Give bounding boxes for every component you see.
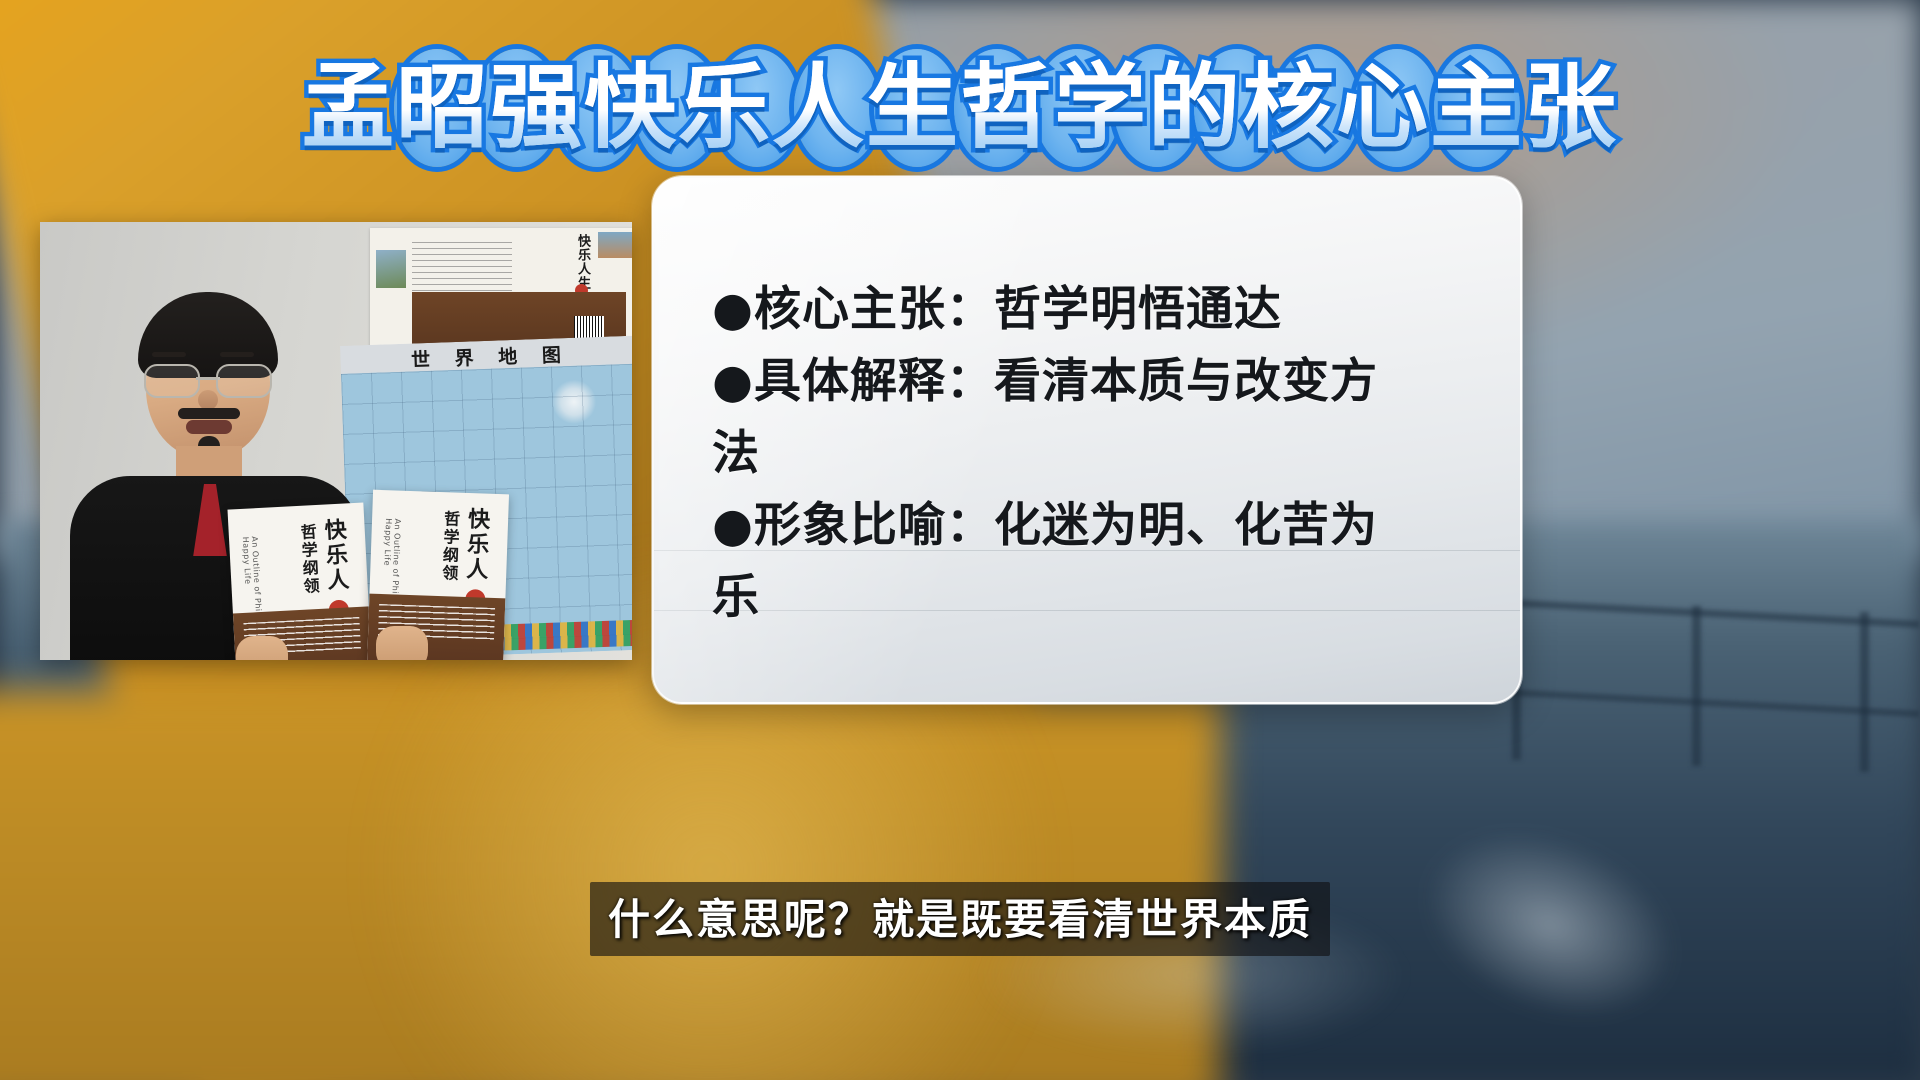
speaker-eyebrow [152,352,186,357]
whiteboard-panel: ●核心主张：哲学明悟通达 ●具体解释：看清本质与改变方 法 ●形象比喻：化迷为明… [652,176,1522,704]
speaker-moustache [178,408,240,419]
book-poster-on-wall: 快乐人生 [370,228,632,352]
poster-small-photo [376,250,406,288]
glasses-lens [216,364,272,398]
whiteboard-line: 法 [712,418,1486,490]
title-banner: 孟昭强快乐人生哲学的核心主张 孟昭强快乐人生哲学的核心主张 [0,44,1920,172]
background-railing-post [1692,606,1701,766]
subtitle-bar: 什么意思呢？就是既要看清世界本质 [590,882,1330,956]
background-railing-post [1860,612,1869,772]
speaker-hand [236,636,288,660]
barcode-icon [574,316,604,338]
speaker-eyebrow [220,352,254,357]
speaker-nose [198,390,218,410]
whiteboard-text-block: ●核心主张：哲学明悟通达 ●具体解释：看清本质与改变方 法 ●形象比喻：化迷为明… [712,274,1486,634]
page-title: 孟昭强快乐人生哲学的核心主张 [302,62,1618,154]
speaker-photo-inset: 快乐人生 世 界 地 图 [40,222,632,660]
book-subtitle-text: 哲学纲领 [294,523,322,596]
speaker-hand [376,626,428,660]
glasses-lens [144,364,200,398]
video-frame: 孟昭强快乐人生哲学的核心主张 孟昭强快乐人生哲学的核心主张 快乐人生 世 界 地… [0,0,1920,1080]
whiteboard-line: ●核心主张：哲学明悟通达 [712,274,1486,346]
subtitle-text: 什么意思呢？就是既要看清世界本质 [608,895,1312,944]
poster-title-text: 快乐人生 [573,234,592,290]
book-subtitle-text: 哲学纲领 [436,510,462,583]
speaker-mouth [186,420,232,434]
whiteboard-line: 乐 [712,562,1486,634]
whiteboard-line: ●具体解释：看清本质与改变方 [712,346,1486,418]
whiteboard-line: ●形象比喻：化迷为明、化苦为 [712,490,1486,562]
book-title-text: 快乐人 [458,507,493,583]
poster-author-photo [598,232,632,258]
